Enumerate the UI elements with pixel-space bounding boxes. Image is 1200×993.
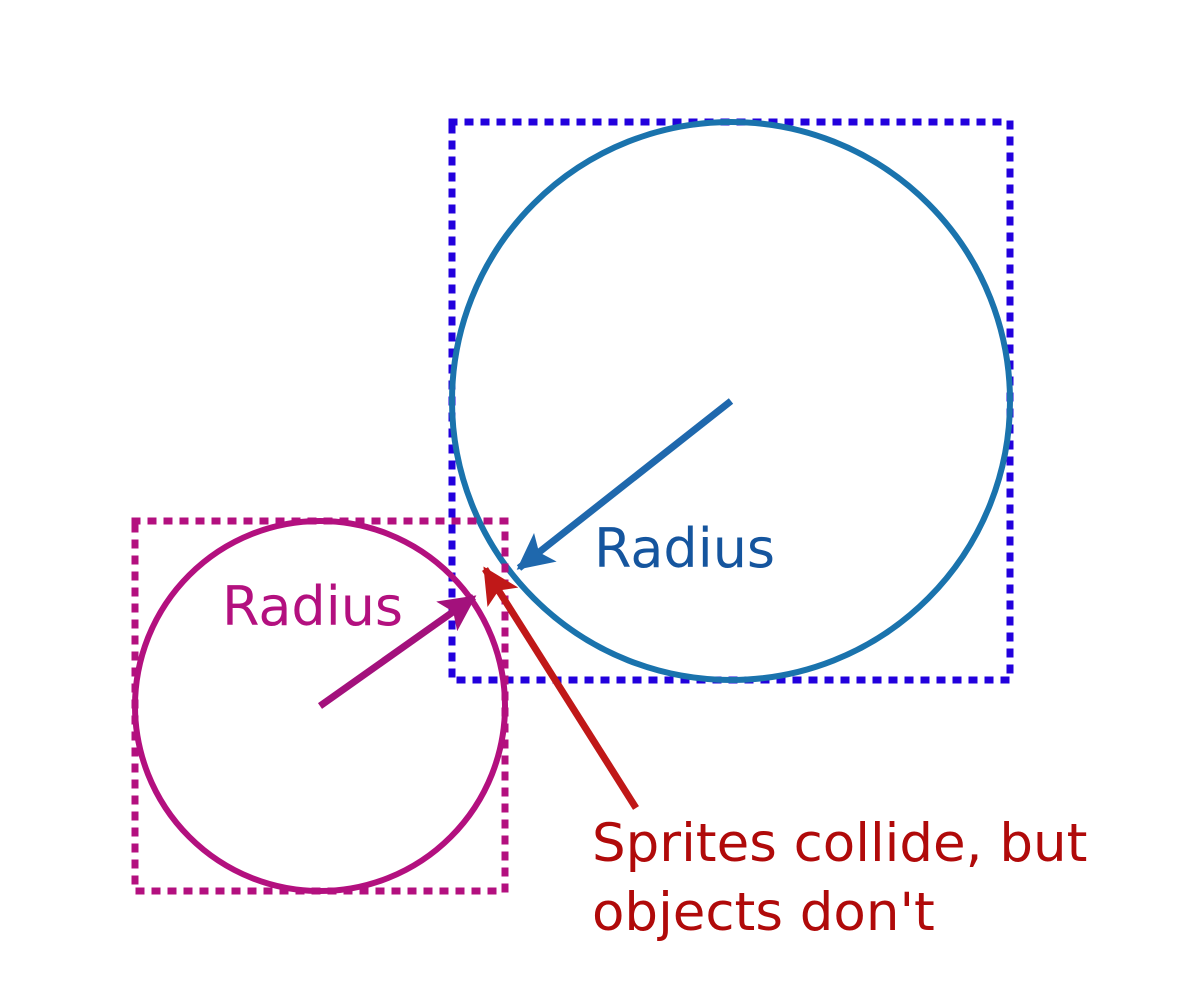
diagram-canvas: Radius Radius Sprites collide, but objec… <box>0 0 1200 993</box>
blue-radius-annotation: Radius <box>519 401 775 580</box>
blue-radius-label: Radius <box>594 517 775 580</box>
magenta-radius-annotation: Radius <box>222 575 474 706</box>
magenta-radius-label: Radius <box>222 575 403 638</box>
collision-note-annotation: Sprites collide, but objects don't <box>485 569 1087 943</box>
collision-diagram: Radius Radius Sprites collide, but objec… <box>0 0 1200 993</box>
collision-note-line2: objects don't <box>592 882 935 943</box>
collision-note-line1: Sprites collide, but <box>592 813 1087 874</box>
